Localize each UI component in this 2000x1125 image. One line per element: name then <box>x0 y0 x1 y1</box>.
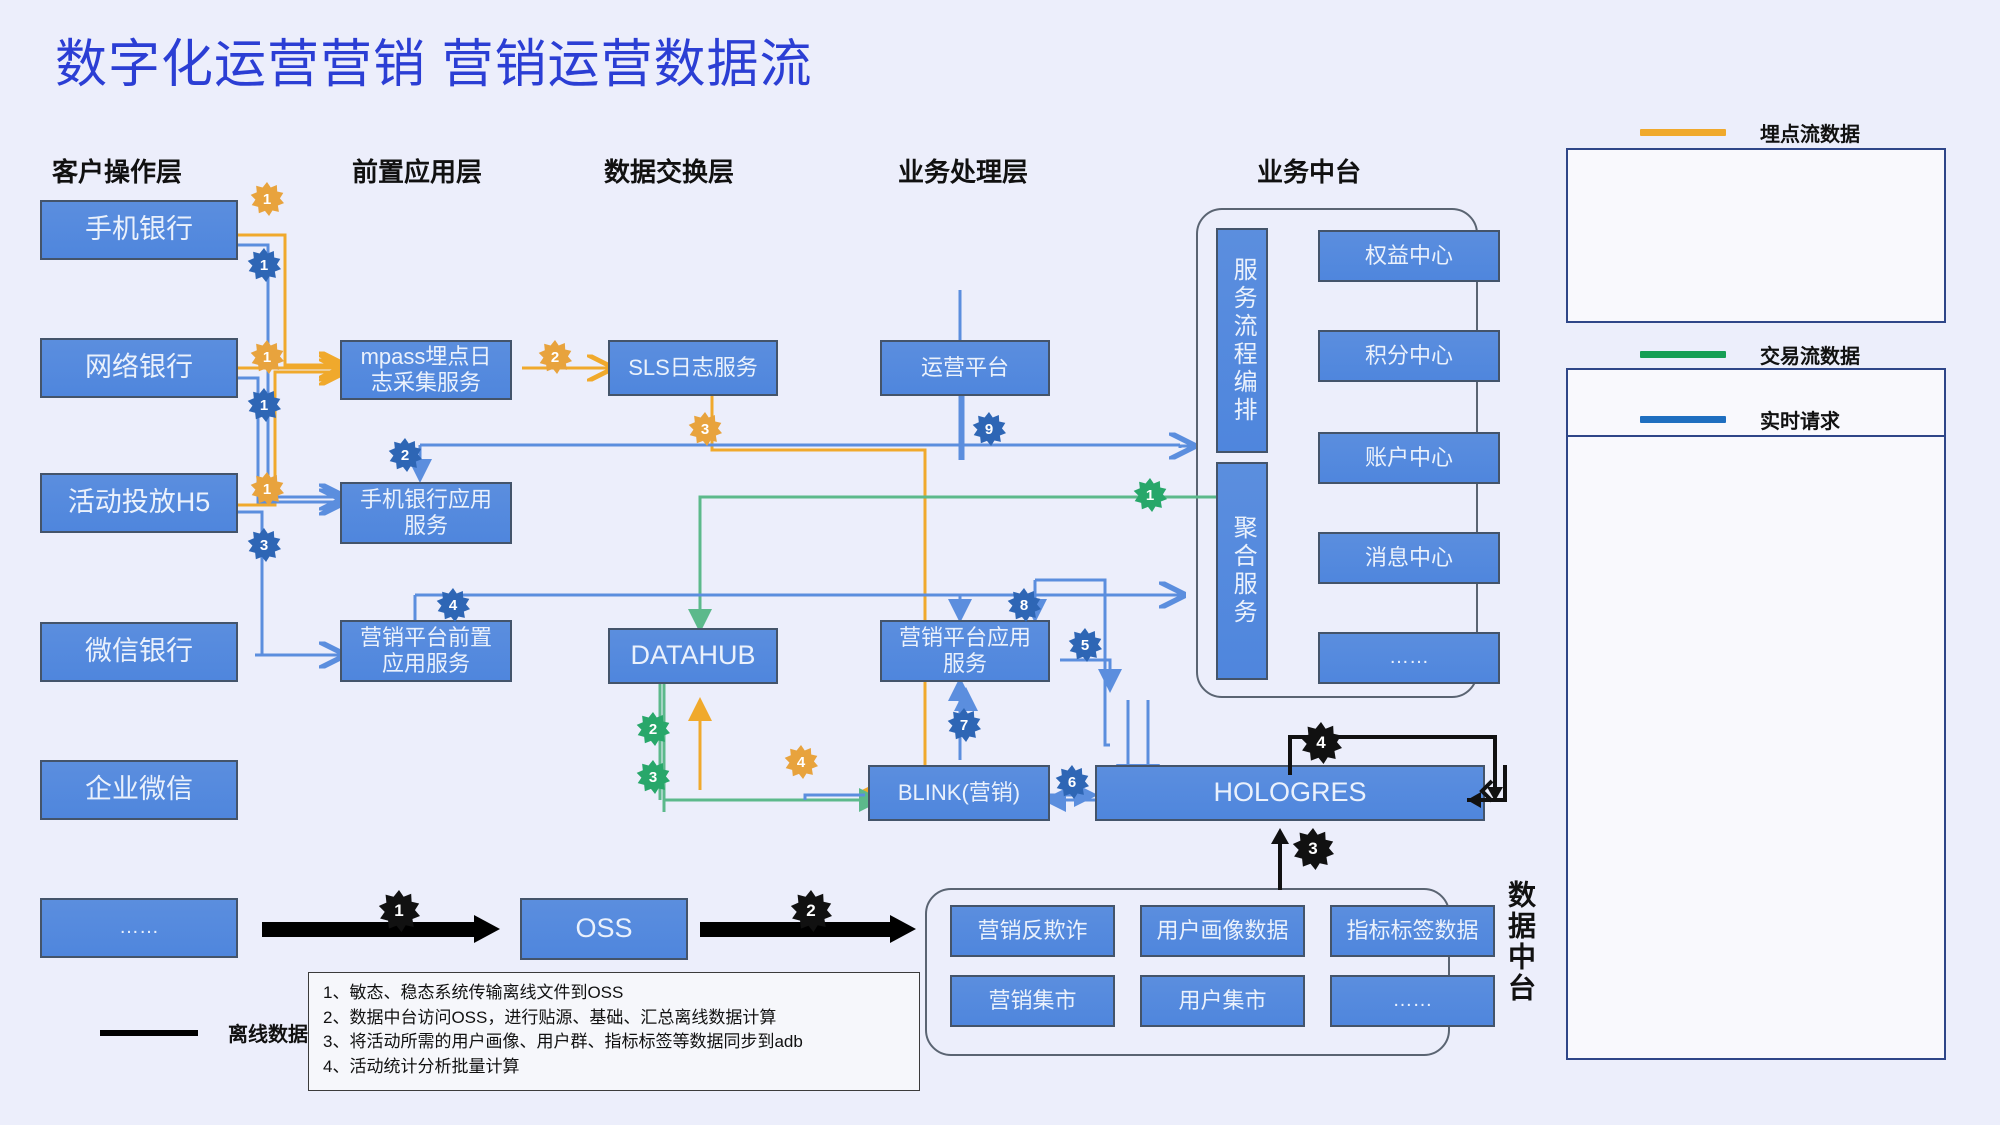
node-marketing-frontend-service[interactable]: 营销平台前置应用服务 <box>340 620 512 682</box>
legend-tracking-label: 埋点流数据 <box>1760 118 1860 147</box>
legend-realtime-swatch <box>1640 416 1726 423</box>
node-sls-log-service[interactable]: SLS日志服务 <box>608 340 778 396</box>
offline-notes: 1、敏态、稳态系统传输离线文件到OSS 2、数据中台访问OSS，进行贴源、基础、… <box>308 972 920 1091</box>
node-marketing-platform-app-service[interactable]: 营销平台应用服务 <box>880 620 1050 682</box>
note-line-2: 2、数据中台访问OSS，进行贴源、基础、汇总离线数据计算 <box>323 1006 907 1031</box>
data-node-metric-tags[interactable]: 指标标签数据 <box>1330 905 1495 957</box>
hologres-loop-arrowhead <box>1455 760 1515 830</box>
node-mobile-bank[interactable]: 手机银行 <box>40 200 238 260</box>
node-enterprise-wechat[interactable]: 企业微信 <box>40 760 238 820</box>
node-web-bank[interactable]: 网络银行 <box>40 338 238 398</box>
node-client-more[interactable]: …… <box>40 898 238 958</box>
node-mobile-bank-app-service[interactable]: 手机银行应用服务 <box>340 482 512 544</box>
data-node-marketing-mart[interactable]: 营销集市 <box>950 975 1115 1027</box>
rail-aggregate-service[interactable]: 聚合服务 <box>1216 462 1268 680</box>
legend-offline: 离线数据 <box>100 1018 308 1047</box>
node-oss[interactable]: OSS <box>520 898 688 960</box>
node-wechat-bank[interactable]: 微信银行 <box>40 622 238 682</box>
data-node-anti-fraud[interactable]: 营销反欺诈 <box>950 905 1115 957</box>
legend-realtime-label: 实时请求 <box>1760 405 1840 434</box>
note-line-1: 1、敏态、稳态系统传输离线文件到OSS <box>323 981 907 1006</box>
node-datahub[interactable]: DATAHUB <box>608 628 778 684</box>
node-mpass-log-collect[interactable]: mpass埋点日志采集服务 <box>340 340 512 400</box>
center-points[interactable]: 积分中心 <box>1318 330 1500 382</box>
node-blink-marketing[interactable]: BLINK(营销) <box>868 765 1050 821</box>
node-operation-platform[interactable]: 运营平台 <box>880 340 1050 396</box>
data-node-user-mart[interactable]: 用户集市 <box>1140 975 1305 1027</box>
legend-transaction: 交易流数据 <box>1640 340 1860 369</box>
offline-arrow-1 <box>262 915 502 943</box>
legend-transaction-label: 交易流数据 <box>1760 340 1860 369</box>
legend-tracking-swatch <box>1640 129 1726 136</box>
diagram-canvas: 数字化运营营销 营销运营数据流 <box>0 0 2000 1125</box>
center-message[interactable]: 消息中心 <box>1318 532 1500 584</box>
center-account[interactable]: 账户中心 <box>1318 432 1500 484</box>
legend-tracking: 埋点流数据 <box>1640 118 1860 147</box>
center-rights[interactable]: 权益中心 <box>1318 230 1500 282</box>
legend-transaction-swatch <box>1640 351 1726 358</box>
legend-offline-label: 离线数据 <box>228 1018 308 1047</box>
data-node-more[interactable]: …… <box>1330 975 1495 1027</box>
rail-service-orchestration[interactable]: 服务流程编排 <box>1216 228 1268 453</box>
note-line-4: 4、活动统计分析批量计算 <box>323 1055 907 1080</box>
legend-realtime: 实时请求 <box>1640 405 1840 434</box>
data-midend-title: 数据中台 <box>1500 880 1540 1004</box>
legend-offline-swatch <box>100 1030 198 1036</box>
data-node-user-profile[interactable]: 用户画像数据 <box>1140 905 1305 957</box>
center-more[interactable]: …… <box>1318 632 1500 684</box>
note-line-3: 3、将活动所需的用户画像、用户群、指标标签等数据同步到adb <box>323 1030 907 1055</box>
datamidend-to-hologres-arrow <box>1265 822 1295 892</box>
node-campaign-h5[interactable]: 活动投放H5 <box>40 473 238 533</box>
